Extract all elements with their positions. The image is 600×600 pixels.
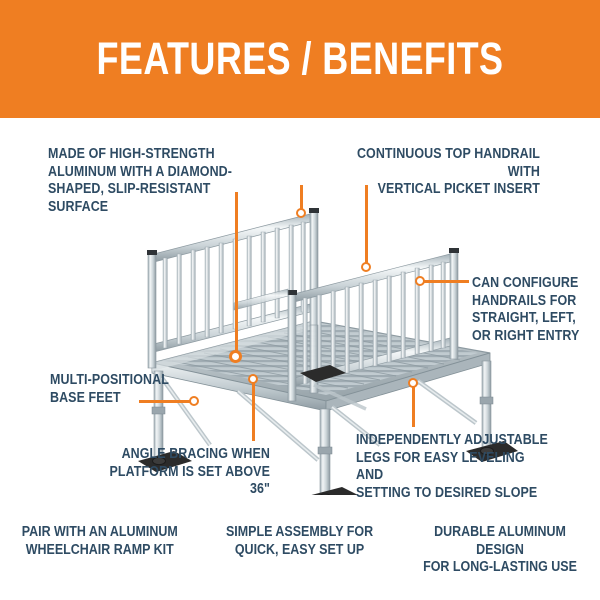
- top-handrail-callout: CONTINUOUS TOP HANDRAIL WITH VERTICAL PI…: [323, 146, 540, 199]
- features-benefits-poster: FEATURES / BENEFITS: [0, 0, 600, 600]
- footer-line: DURABLE ALUMINUM DESIGN: [414, 524, 586, 559]
- callout-line: BASE FEET: [50, 390, 188, 408]
- footer-item-durable-design: DURABLE ALUMINUM DESIGN FOR LONG-LASTING…: [400, 518, 600, 588]
- callout-line: SURFACE: [48, 199, 272, 217]
- callout-line: ALUMINUM WITH A DIAMOND-: [48, 164, 272, 182]
- handrail-configuration-callout: CAN CONFIGURE HANDRAILS FOR STRAIGHT, LE…: [472, 275, 582, 345]
- footer-item-simple-assembly: SIMPLE ASSEMBLY FOR QUICK, EASY SET UP: [200, 518, 400, 588]
- callout-line: CONTINUOUS TOP HANDRAIL WITH: [323, 146, 540, 181]
- footer-line: WHEELCHAIR RAMP KIT: [22, 542, 178, 560]
- callout-line: LEGS FOR EASY LEVELING AND: [356, 450, 554, 485]
- footer-item-ramp-kit: PAIR WITH AN ALUMINUM WHEELCHAIR RAMP KI…: [0, 518, 200, 588]
- angle-bracing-callout-dot: [248, 374, 258, 384]
- page-title: FEATURES / BENEFITS: [60, 0, 540, 118]
- top-handrail-callout-dot-a: [296, 208, 306, 218]
- footer-line: SIMPLE ASSEMBLY FOR: [226, 524, 373, 542]
- adjustable-legs-callout-dot: [408, 378, 418, 388]
- footer-benefits-row: PAIR WITH AN ALUMINUM WHEELCHAIR RAMP KI…: [0, 518, 600, 588]
- angle-bracing-callout: ANGLE BRACING WHEN PLATFORM IS SET ABOVE…: [91, 446, 270, 499]
- callout-line: SETTING TO DESIRED SLOPE: [356, 485, 554, 503]
- handrail-configuration-callout-dot: [415, 276, 425, 286]
- callout-line: VERTICAL PICKET INSERT: [323, 181, 540, 199]
- callout-line: OR RIGHT ENTRY: [472, 328, 582, 346]
- callout-line: PLATFORM IS SET ABOVE 36": [91, 464, 270, 499]
- deck-surface-leader-line: [235, 192, 238, 356]
- footer-line: PAIR WITH AN ALUMINUM: [22, 524, 178, 542]
- callout-line: ANGLE BRACING WHEN: [91, 446, 270, 464]
- footer-line: FOR LONG-LASTING USE: [414, 559, 586, 577]
- adjustable-legs-callout: INDEPENDENTLY ADJUSTABLE LEGS FOR EASY L…: [356, 432, 554, 502]
- base-feet-leader-line: [139, 400, 193, 403]
- callout-line: INDEPENDENTLY ADJUSTABLE: [356, 432, 554, 450]
- top-handrail-leader-line-b: [365, 185, 368, 265]
- callout-line: SHAPED, SLIP-RESISTANT: [48, 181, 272, 199]
- footer-line: QUICK, EASY SET UP: [226, 542, 373, 560]
- deck-surface-callout-dot: [229, 350, 242, 363]
- top-handrail-callout-dot-b: [361, 262, 371, 272]
- base-feet-callout-dot: [189, 396, 199, 406]
- handrail-configuration-leader-line: [423, 280, 469, 283]
- callout-line: CAN CONFIGURE: [472, 275, 582, 293]
- callout-line: MADE OF HIGH-STRENGTH: [48, 146, 272, 164]
- callout-line: MULTI-POSITIONAL: [50, 372, 188, 390]
- callout-line: HANDRAILS FOR: [472, 293, 582, 311]
- callout-line: STRAIGHT, LEFT,: [472, 310, 582, 328]
- angle-bracing-leader-line: [252, 383, 255, 441]
- adjustable-legs-leader-line: [412, 387, 415, 427]
- deck-surface-callout: MADE OF HIGH-STRENGTH ALUMINUM WITH A DI…: [48, 146, 272, 216]
